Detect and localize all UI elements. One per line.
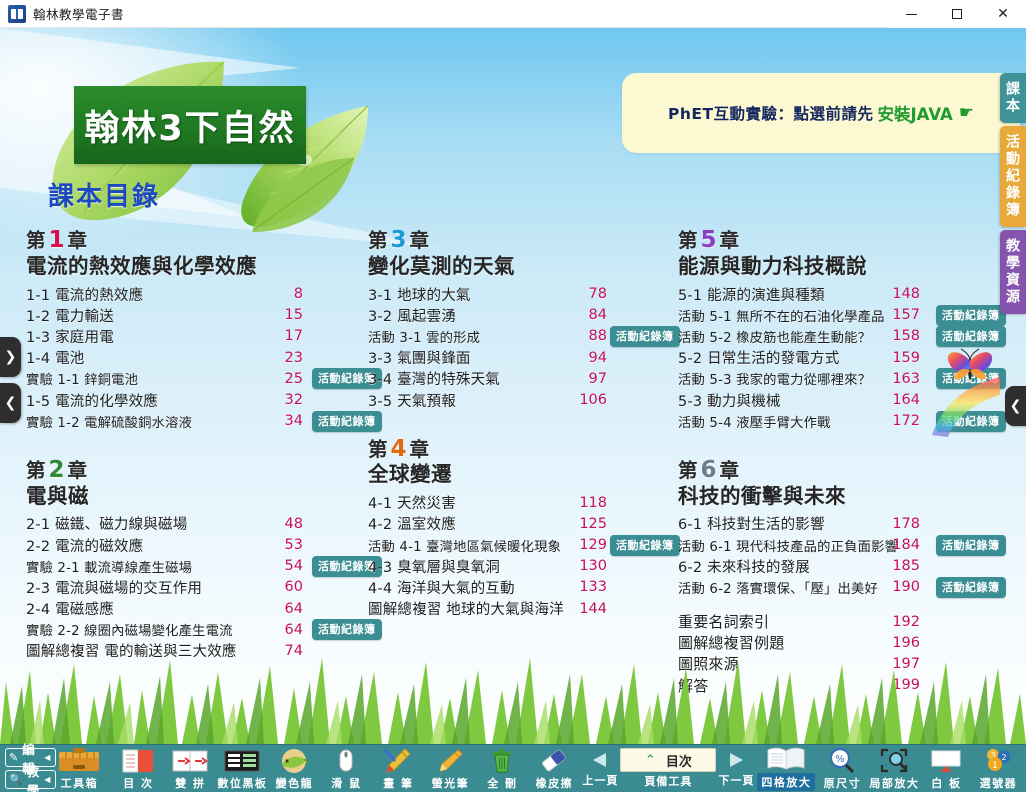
toc-entry[interactable]: 重要名詞索引192 [678,611,998,632]
chapter-number-2: 2 [47,457,68,483]
toc-entry[interactable]: 實驗 1-1 鋅銅電池25活動紀錄簿 [26,368,371,389]
toc-entry[interactable]: 2-2 電流的磁效應53 [26,534,371,555]
toolbar-group-zoom: 四格放大 % 原尺寸 局部放大 [756,745,1026,793]
eraser-icon [539,747,569,774]
toc-entry-label: 5-3 動力與機械 [678,390,781,411]
toc-entry-label: 2-1 磁鐵、磁力線與磁場 [26,513,187,534]
toc-entry[interactable]: 圖解總複習例題196 [678,632,998,653]
toc-entry-page: 178 [882,516,920,532]
toc-column-2: 第3章變化莫測的天氣3-1 地球的大氣783-2 風起雲湧84活動 3-1 雲的… [368,228,693,619]
toc-entry[interactable]: 5-2 日常生活的發電方式159 [678,347,998,368]
crop-zoom-icon [879,747,909,774]
toc-entry-label: 實驗 2-1 載流導線產生磁場 [26,557,192,576]
toc-entry-label: 實驗 1-1 鋅銅電池 [26,369,138,388]
pointer-wand-icon: 🔍 [9,773,25,786]
chapter-title-6: 科技的衝擊與未來 [678,483,998,510]
toc-entry-page: 94 [569,350,607,366]
toc-entry-label: 4-4 海洋與大氣的互動 [368,577,515,598]
toc-entry[interactable]: 實驗 2-1 載流導線產生磁場54活動紀錄簿 [26,556,371,577]
install-java-link[interactable]: 安裝JAVA [878,101,953,125]
toc-entry[interactable]: 活動 6-2 落實環保、「壓」出美好190活動紀錄簿 [678,577,998,598]
chapter-title-5: 能源與動力科技概說 [678,253,998,280]
toc-entry-page: 8 [269,286,303,302]
window-titlebar: 翰林教學電子書 ✕ [0,0,1026,28]
chapter-number-6: 6 [699,457,720,483]
toc-entry-page: 133 [569,579,607,595]
toc-entry-label: 4-2 溫室效應 [368,513,456,534]
pen-icon [383,747,413,774]
chapter-block-3: 第3章變化莫測的天氣3-1 地球的大氣783-2 風起雲湧84活動 3-1 雲的… [368,228,693,411]
window-title: 翰林教學電子書 [33,4,124,23]
teach-mode-button[interactable]: 🔍 教 學 ◀ [5,770,56,789]
book-app-icon [8,5,26,23]
toc-entry[interactable]: 活動 5-1 無所不在的石油化學產品157活動紀錄簿 [678,305,998,326]
toc-entry-page: 190 [882,579,920,595]
minimize-button[interactable] [888,0,934,28]
number-picker-icon: 3 2 1 [982,747,1014,774]
toc-entry-page: 172 [882,413,920,429]
toc-entry[interactable]: 圖照來源197 [678,653,998,674]
toc-entry-page: 97 [569,371,607,387]
triangle-left-icon [589,751,611,769]
toc-entry-page: 129 [569,537,607,553]
toc-entry-page: 118 [569,495,607,511]
toc-entry-label: 實驗 1-2 電解硫酸銅水溶液 [26,412,192,431]
toc-entry-label: 1-2 電力輸送 [26,305,114,326]
toc-entry-page: 196 [882,635,920,651]
digital-blackboard-label: 數位黑板 [217,775,267,791]
svg-text:1: 1 [993,761,999,771]
toc-entry-page: 23 [269,350,303,366]
pager-controls: 上一頁 ⌃ 目次 頁備工具 下一頁 [580,748,756,789]
pen-label: 畫 筆 [383,775,413,791]
toc-entry[interactable]: 活動 5-2 橡皮筋也能產生動能？158活動紀錄簿 [678,326,998,347]
toc-entry[interactable]: 3-3 氣團與鋒面94 [368,347,693,368]
toolbox-icon [56,747,102,774]
toc-entry-label: 活動 3-1 雲的形成 [368,327,480,346]
four-grid-zoom-icon [764,745,808,772]
page-tools-control: ⌃ 目次 頁備工具 [620,748,716,789]
toc-entry[interactable]: 6-2 未來科技的發展185 [678,556,998,577]
four-grid-zoom-label: 四格放大 [757,773,815,791]
toc-entry[interactable]: 2-4 電磁感應64 [26,598,371,619]
toc-entry[interactable]: 實驗 1-2 電解硫酸銅水溶液34活動紀錄簿 [26,411,371,432]
toc-entry-page: 130 [569,558,607,574]
highlighter-label: 螢光筆 [432,775,470,791]
number-picker-label: 選號器 [980,775,1018,791]
chapter-entries-2: 2-1 磁鐵、磁力線與磁場482-2 電流的磁效應53實驗 2-1 載流導線產生… [26,513,371,661]
activity-record-badge[interactable]: 活動紀錄簿 [936,368,1006,389]
toc-entry[interactable]: 3-2 風起雲湧84 [368,305,693,326]
highlighter-button[interactable]: 螢光筆 [424,745,476,793]
chapter-number-4: 4 [389,436,410,462]
toc-entry[interactable]: 3-1 地球的大氣78 [368,283,693,304]
toc-entry-page: 125 [569,516,607,532]
chapter-block-2: 第2章電與磁2-1 磁鐵、磁力線與磁場482-2 電流的磁效應53實驗 2-1 … [26,458,371,662]
whiteboard-button[interactable]: 白 板 [920,745,972,793]
toc-entry[interactable]: 2-1 磁鐵、磁力線與磁場48 [26,513,371,534]
toc-entry-label: 活動 6-1 現代科技產品的正負面影響 [678,536,898,555]
activity-record-badge[interactable]: 活動紀錄簿 [610,326,680,347]
chevron-left-icon-2: ◀ [44,775,52,784]
toc-entry-label: 3-5 天氣預報 [368,390,456,411]
prev-page-label: 上一頁 [580,772,620,788]
book-title-plate: 翰林3下自然 [74,86,306,164]
four-grid-zoom-button[interactable]: 四格放大 [756,745,816,793]
activity-record-badge[interactable]: 活動紀錄簿 [936,326,1006,347]
toc-entry-label: 5-1 能源的演進與種類 [678,284,825,305]
toc-entry-page: 164 [882,392,920,408]
chapter-number-1: 1 [47,227,68,253]
chameleon-button[interactable]: 變色龍 [268,745,320,793]
toc-entry-label: 3-2 風起雲湧 [368,305,456,326]
toc-entry-page: 144 [569,601,607,617]
toc-entry-page: 159 [882,350,920,366]
page-next-edge-button[interactable]: ❯ [0,337,21,377]
toc-entry-page: 163 [882,371,920,387]
toc-entry-label: 活動 5-1 無所不在的石油化學產品 [678,306,885,325]
chapter-block-1: 第1章電流的熱效應與化學效應1-1 電流的熱效應81-2 電力輸送151-3 家… [26,228,371,432]
chevron-left-icon: ◀ [44,753,52,762]
next-page-label: 下一頁 [716,772,756,788]
triangle-right-icon [725,751,747,769]
book-contents-page: 翰林3下自然 課本目錄 PhET互動實驗：點選前請先 安裝JAVA ☛ 第1章電… [0,28,1026,744]
toc-entry[interactable]: 解答199 [678,675,998,696]
toc-entry-page: 84 [569,307,607,323]
window-controls: ✕ [888,0,1026,28]
toc-entry[interactable]: 活動 5-3 我家的電力從哪裡來？163活動紀錄簿 [678,368,998,389]
toc-entry-label: 實驗 2-2 線圈內磁場變化產生電流 [26,620,233,639]
activity-record-badge[interactable]: 活動紀錄簿 [610,535,680,556]
delete-all-label: 全 刪 [487,775,517,791]
chameleon-label: 變色龍 [276,775,314,791]
partial-zoom-button[interactable]: 局部放大 [868,745,920,793]
eraser-button[interactable]: 橡皮擦 [528,745,580,793]
dual-page-icon [170,747,210,774]
page-prev-edge-button[interactable]: ❮ [0,383,21,423]
toc-entry[interactable]: 4-3 臭氧層與臭氧洞130 [368,556,693,577]
toc-entry-page: 192 [882,614,920,630]
whiteboard-icon [929,747,963,774]
partial-zoom-label: 局部放大 [869,775,919,791]
toc-entry-label: 圖解總複習 電的輸送與三大效應 [26,640,237,661]
chapter-number-5: 5 [699,227,720,253]
original-size-button[interactable]: % 原尺寸 [816,745,868,793]
toc-entry-page: 25 [269,371,303,387]
maximize-button[interactable] [934,0,980,28]
toc-entry[interactable]: 5-3 動力與機械164 [678,389,998,410]
toc-entry-label: 活動 6-2 落實環保、「壓」出美好 [678,578,878,597]
toc-entry[interactable]: 4-4 海洋與大氣的互動133 [368,577,693,598]
toc-entry-label: 2-2 電流的磁效應 [26,535,143,556]
toc-entry-page: 197 [882,656,920,672]
magnifier-percent-icon: % [827,747,857,774]
toc-entry-page: 185 [882,558,920,574]
activity-record-badge[interactable]: 活動紀錄簿 [936,535,1006,556]
contents-label: 目 次 [123,775,153,791]
toc-entry-page: 78 [569,286,607,302]
toc-entry[interactable]: 圖解總複習 地球的大氣與海洋144 [368,598,693,619]
svg-text:2: 2 [1002,753,1007,762]
toc-entry-page: 64 [269,622,303,638]
toc-entry[interactable]: 1-3 家庭用電17 [26,326,371,347]
whiteboard-label: 白 板 [931,775,961,791]
toc-entry-page: 54 [269,558,303,574]
toc-entry-page: 17 [269,328,303,344]
toc-entry-label: 圖照來源 [678,653,739,674]
number-picker-button[interactable]: 3 2 1 選號器 [972,745,1024,793]
dual-page-label: 雙 拼 [175,775,205,791]
digital-blackboard-button[interactable]: 數位黑板 [216,745,268,793]
trash-icon [490,747,514,774]
chapter-title-3: 變化莫測的天氣 [368,253,693,280]
appendix-entries: 重要名詞索引192圖解總複習例題196圖照來源197解答199 [678,611,998,696]
chapter-title-1: 電流的熱效應與化學效應 [26,253,371,280]
chapter-heading-2: 第2章 [26,458,371,483]
toc-entry[interactable]: 3-4 臺灣的特殊天氣97 [368,368,693,389]
highlighter-icon [435,747,465,774]
pointing-hand-icon: ☛ [959,103,974,123]
chapter-entries-1: 1-1 電流的熱效應81-2 電力輸送151-3 家庭用電171-4 電池23實… [26,283,371,431]
toc-entry-label: 5-2 日常生活的發電方式 [678,347,839,368]
chapter-block-5: 第5章能源與動力科技概說5-1 能源的演進與種類148活動 5-1 無所不在的石… [678,228,998,432]
chapter-heading-1: 第1章 [26,228,371,253]
dual-page-button[interactable]: 雙 拼 [164,745,216,793]
toolbox-button[interactable]: 工具箱 [56,745,102,793]
phet-banner-text: PhET互動實驗：點選前請先 [668,102,874,124]
toc-entry-label: 活動 4-1 臺灣地區氣候暖化現象 [368,536,561,555]
toc-entry[interactable]: 1-1 電流的熱效應8 [26,283,371,304]
chapter-heading-3: 第3章 [368,228,693,253]
svg-text:%: % [836,754,846,765]
delete-all-button[interactable]: 全 刪 [476,745,528,793]
toc-entry[interactable]: 1-4 電池23 [26,347,371,368]
leaf-decoration-small [248,156,358,236]
toc-entry[interactable]: 1-2 電力輸送15 [26,305,371,326]
chapter-title-2: 電與磁 [26,483,371,510]
toc-entry-label: 6-1 科技對生活的影響 [678,513,825,534]
toc-entry-label: 1-4 電池 [26,347,85,368]
toc-entry-label: 4-3 臭氧層與臭氧洞 [368,556,500,577]
toc-entry-label: 3-4 臺灣的特殊天氣 [368,368,500,389]
toc-entry-label: 3-1 地球的大氣 [368,284,471,305]
toc-entry-label: 重要名詞索引 [678,611,769,632]
toc-entry[interactable]: 活動 5-4 液壓手臂大作戰172活動紀錄簿 [678,411,998,432]
chapter-heading-5: 第5章 [678,228,998,253]
prev-page-button[interactable]: 上一頁 [580,750,620,788]
toc-entry-page: 32 [269,392,303,408]
toc-entry-page: 64 [269,601,303,617]
page-jump-box[interactable]: ⌃ 目次 [620,748,716,772]
chapter-title-4: 全球變遷 [368,461,693,488]
activity-record-badge[interactable]: 活動紀錄簿 [936,305,1006,326]
toc-entry[interactable]: 活動 3-1 雲的形成88活動紀錄簿 [368,326,693,347]
book-title-text: 翰林3下自然 [84,100,295,151]
mode-buttons: ✎ 編 輯 ◀ 🔍 教 學 ◀ [5,748,56,789]
eraser-label: 橡皮擦 [536,775,574,791]
toolbox-label: 工具箱 [61,775,99,791]
chapter-entries-4: 4-1 天然災害1184-2 溫室效應125活動 4-1 臺灣地區氣候暖化現象1… [368,492,693,619]
toc-entry-label: 圖解總複習 地球的大氣與海洋 [368,598,564,619]
toc-entry-label: 活動 5-2 橡皮筋也能產生動能？ [678,327,871,346]
bottom-toolbar: ✎ 編 輯 ◀ 🔍 教 學 ◀ 工具箱 [0,744,1026,792]
toc-entry-page: 15 [269,307,303,323]
next-page-button[interactable]: 下一頁 [716,750,756,788]
sidebar-tab-activity-record[interactable]: 活動紀錄簿 [1000,126,1026,227]
toc-entry[interactable]: 活動 6-1 現代科技產品的正負面影響184活動紀錄簿 [678,534,998,555]
toc-entry-label: 1-1 電流的熱效應 [26,284,143,305]
digital-blackboard-icon [222,747,262,774]
activity-record-badge[interactable]: 活動紀錄簿 [936,577,1006,598]
toc-entry-page: 60 [269,579,303,595]
toc-column-3: 第5章能源與動力科技概說5-1 能源的演進與種類148活動 5-1 無所不在的石… [678,228,998,696]
toc-entry-page: 106 [569,392,607,408]
toc-entry-label: 6-2 未來科技的發展 [678,556,810,577]
activity-record-badge[interactable]: 活動紀錄簿 [312,619,382,640]
close-button[interactable]: ✕ [980,0,1026,28]
toolbar-group-view: 目 次 雙 拼 數位黑板 [112,745,372,793]
toc-column-1: 第1章電流的熱效應與化學效應1-1 電流的熱效應81-2 電力輸送151-3 家… [26,228,371,662]
chameleon-icon [277,747,311,774]
toc-entry-page: 53 [269,537,303,553]
chapter-block-4: 第4章全球變遷4-1 天然災害1184-2 溫室效應125活動 4-1 臺灣地區… [368,437,693,620]
page-tools-label: 頁備工具 [644,773,692,789]
chapter-entries-6: 6-1 科技對生活的影響178活動 6-1 現代科技產品的正負面影響184活動紀… [678,513,998,598]
toc-entry[interactable]: 活動 4-1 臺灣地區氣候暖化現象129活動紀錄簿 [368,534,693,555]
toc-entry-label: 2-4 電磁感應 [26,598,114,619]
sidebar-collapse-button[interactable]: ❮ [1005,386,1026,426]
toc-entry-label: 3-3 氣團與鋒面 [368,347,471,368]
toc-entry-page: 199 [882,677,920,693]
toc-entry-label: 活動 5-4 液壓手臂大作戰 [678,412,831,431]
right-side-tabs: 課本 活動紀錄簿 教學資源 [1000,73,1026,317]
toc-entry-page: 157 [882,307,920,323]
toc-entry[interactable]: 6-1 科技對生活的影響178 [678,513,998,534]
page-jump-value: 目次 [666,751,692,770]
toc-entry-page: 158 [882,328,920,344]
original-size-label: 原尺寸 [824,775,862,791]
toc-entry-label: 4-1 天然災害 [368,492,456,513]
toc-entry-page: 184 [882,537,920,553]
toc-entry[interactable]: 3-5 天氣預報106 [368,389,693,410]
toc-entry[interactable]: 5-1 能源的演進與種類148 [678,283,998,304]
page-title: 課本目錄 [48,176,160,213]
toc-entry[interactable]: 圖解總複習 電的輸送與三大效應74 [26,640,371,661]
table-of-contents: 第1章電流的熱效應與化學效應1-1 電流的熱效應81-2 電力輸送151-3 家… [0,228,990,708]
mouse-label: 滑 鼠 [331,775,361,791]
chapter-heading-4: 第4章 [368,437,693,462]
toc-entry[interactable]: 4-1 天然災害118 [368,492,693,513]
teach-mode-label: 教 學 [27,761,42,799]
contents-button[interactable]: 目 次 [112,745,164,793]
toc-entry-label: 解答 [678,675,708,696]
pen-button[interactable]: 畫 筆 [372,745,424,793]
toc-entry[interactable]: 實驗 2-2 線圈內磁場變化產生電流64活動紀錄簿 [26,619,371,640]
toc-entry-page: 34 [269,413,303,429]
chapter-number-3: 3 [389,227,410,253]
chevron-up-icon: ⌃ [645,753,656,768]
mouse-button[interactable]: 滑 鼠 [320,745,372,793]
toc-entry-page: 74 [269,643,303,659]
toc-entry[interactable]: 4-2 溫室效應125 [368,513,693,534]
toc-entry[interactable]: 2-3 電流與磁場的交互作用60 [26,577,371,598]
toc-entry-label: 1-5 電流的化學效應 [26,390,158,411]
toc-entry-label: 1-3 家庭用電 [26,326,114,347]
chapter-block-6: 第6章科技的衝擊與未來6-1 科技對生活的影響178活動 6-1 現代科技產品的… [678,458,998,696]
toc-entry-page: 148 [882,286,920,302]
sidebar-tab-teaching-resources[interactable]: 教學資源 [1000,230,1026,314]
phet-banner[interactable]: PhET互動實驗：點選前請先 安裝JAVA ☛ [622,73,1020,153]
chapter-heading-6: 第6章 [678,458,998,483]
pencil-icon: ✎ [9,751,20,764]
toc-entry-label: 活動 5-3 我家的電力從哪裡來？ [678,369,871,388]
contents-icon [118,747,158,774]
chapter-entries-3: 3-1 地球的大氣783-2 風起雲湧84活動 3-1 雲的形成88活動紀錄簿3… [368,283,693,410]
toc-entry[interactable]: 1-5 電流的化學效應32 [26,389,371,410]
toc-entry-label: 圖解總複習例題 [678,632,784,653]
activity-record-badge[interactable]: 活動紀錄簿 [936,411,1006,432]
mouse-icon [333,747,359,774]
toc-entry-label: 2-3 電流與磁場的交互作用 [26,577,202,598]
chapter-entries-5: 5-1 能源的演進與種類148活動 5-1 無所不在的石油化學產品157活動紀錄… [678,283,998,431]
toolbar-group-draw: 畫 筆 螢光筆 全 刪 [372,745,580,793]
toc-entry-page: 48 [269,516,303,532]
toc-entry-page: 88 [569,328,607,344]
sidebar-tab-textbook[interactable]: 課本 [1000,73,1026,123]
